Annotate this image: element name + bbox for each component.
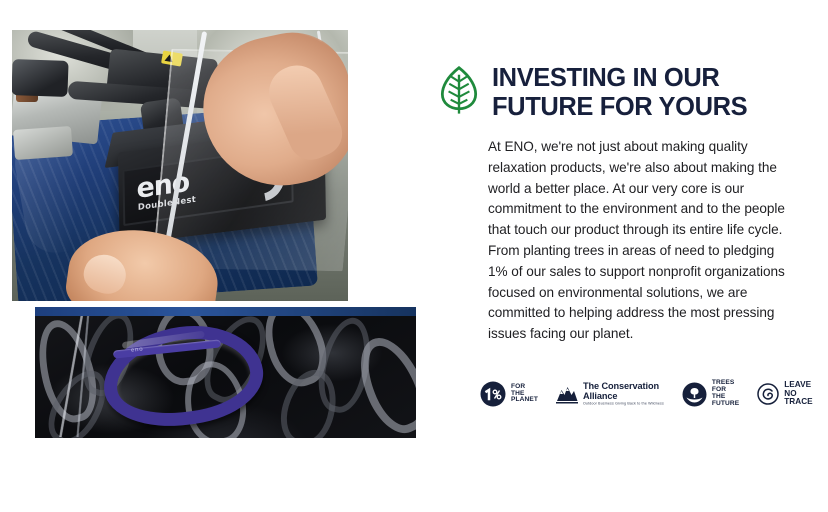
logo-one-percent-label: FOR THE PLANET (511, 384, 538, 405)
page-title: INVESTING IN OUR FUTURE FOR YOURS (492, 62, 747, 121)
logo-line-1: FOR THE (511, 384, 538, 398)
spiral-circle-icon (757, 383, 779, 405)
machine-scene: eno DoubleNest (12, 30, 348, 301)
one-percent-circle-icon (480, 381, 506, 407)
headline-line-2: FUTURE FOR YOURS (492, 93, 747, 122)
photo-sewing-machine: eno DoubleNest (10, 28, 350, 303)
body-copy: At ENO, we're not just about making qual… (488, 137, 788, 345)
logo-trees-label: TREES FOR THE FUTURE (712, 380, 739, 408)
logo-line-2: NO TRACE (784, 390, 812, 407)
logo-leave-no-trace[interactable]: LEAVE NO TRACE (757, 381, 812, 407)
logo-line-2: FOR THE (712, 387, 739, 401)
logo-the-conservation-alliance[interactable]: The Conservation Alliance Outdoor Busine… (556, 382, 664, 407)
headline-line-1: INVESTING IN OUR (492, 64, 747, 93)
fabric-edge-strip (35, 307, 416, 316)
logo-one-percent-for-the-planet[interactable]: FOR THE PLANET (480, 381, 538, 407)
image-collage: eno (0, 0, 430, 512)
carabiner-scene: eno (35, 307, 416, 438)
logo-tagline: Outdoor Business Giving Back to the Wild… (583, 402, 664, 406)
machine-bracket (13, 126, 73, 160)
logo-leave-no-trace-label: LEAVE NO TRACE (784, 381, 812, 407)
tree-hands-circle-icon (682, 382, 707, 407)
logo-trees-for-the-future[interactable]: TREES FOR THE FUTURE (682, 380, 739, 408)
body-paragraph: At ENO, we're not just about making qual… (488, 137, 788, 345)
content-column: INVESTING IN OUR FUTURE FOR YOURS At ENO… (438, 62, 798, 345)
partner-logo-row: FOR THE PLANET The Conservation Alliance… (480, 378, 810, 410)
cord-wires (43, 313, 103, 437)
page-root: eno (0, 0, 828, 512)
logo-line-2: PLANET (511, 397, 538, 404)
logo-line-3: FUTURE (712, 401, 739, 408)
leaf-icon (438, 65, 480, 115)
headline-row: INVESTING IN OUR FUTURE FOR YOURS (438, 62, 798, 121)
logo-line-2: Alliance (583, 392, 664, 402)
logo-conservation-alliance-label: The Conservation Alliance Outdoor Busine… (583, 382, 664, 407)
machine-presser-foot (11, 59, 68, 97)
carabiner-eno-mark: eno (131, 346, 144, 353)
logo-line-1: The Conservation (583, 382, 664, 392)
photo-carabiners: eno (33, 305, 418, 440)
mountain-range-icon (556, 384, 578, 404)
